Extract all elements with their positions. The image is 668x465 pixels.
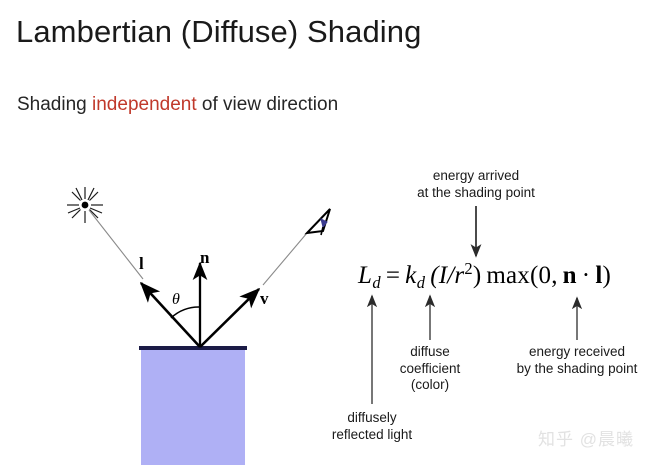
callout-diffusely-reflected-line2: reflected light [332, 427, 412, 444]
callout-diffuse-coefficient-line2: coefficient [400, 361, 461, 378]
callout-diffusely-reflected: diffusely reflected light [332, 410, 412, 443]
callout-energy-received-line1: energy received [517, 344, 638, 361]
callout-diffusely-reflected-line1: diffusely [332, 410, 412, 427]
callout-energy-received-line2: by the shading point [517, 361, 638, 378]
callout-energy-arrived-line2: at the shading point [417, 185, 535, 202]
callout-diffuse-coefficient-line3: (color) [400, 377, 461, 394]
callout-arrows [0, 0, 668, 465]
callout-energy-arrived: energy arrived at the shading point [417, 168, 535, 201]
callout-energy-arrived-line1: energy arrived [417, 168, 535, 185]
callout-diffuse-coefficient-line1: diffuse [400, 344, 461, 361]
callout-energy-received: energy received by the shading point [517, 344, 638, 377]
slide-canvas: Lambertian (Diffuse) Shading Shading ind… [0, 0, 668, 465]
zhihu-watermark: 知乎 @晨曦 [538, 425, 634, 450]
callout-diffuse-coefficient: diffuse coefficient (color) [400, 344, 461, 394]
